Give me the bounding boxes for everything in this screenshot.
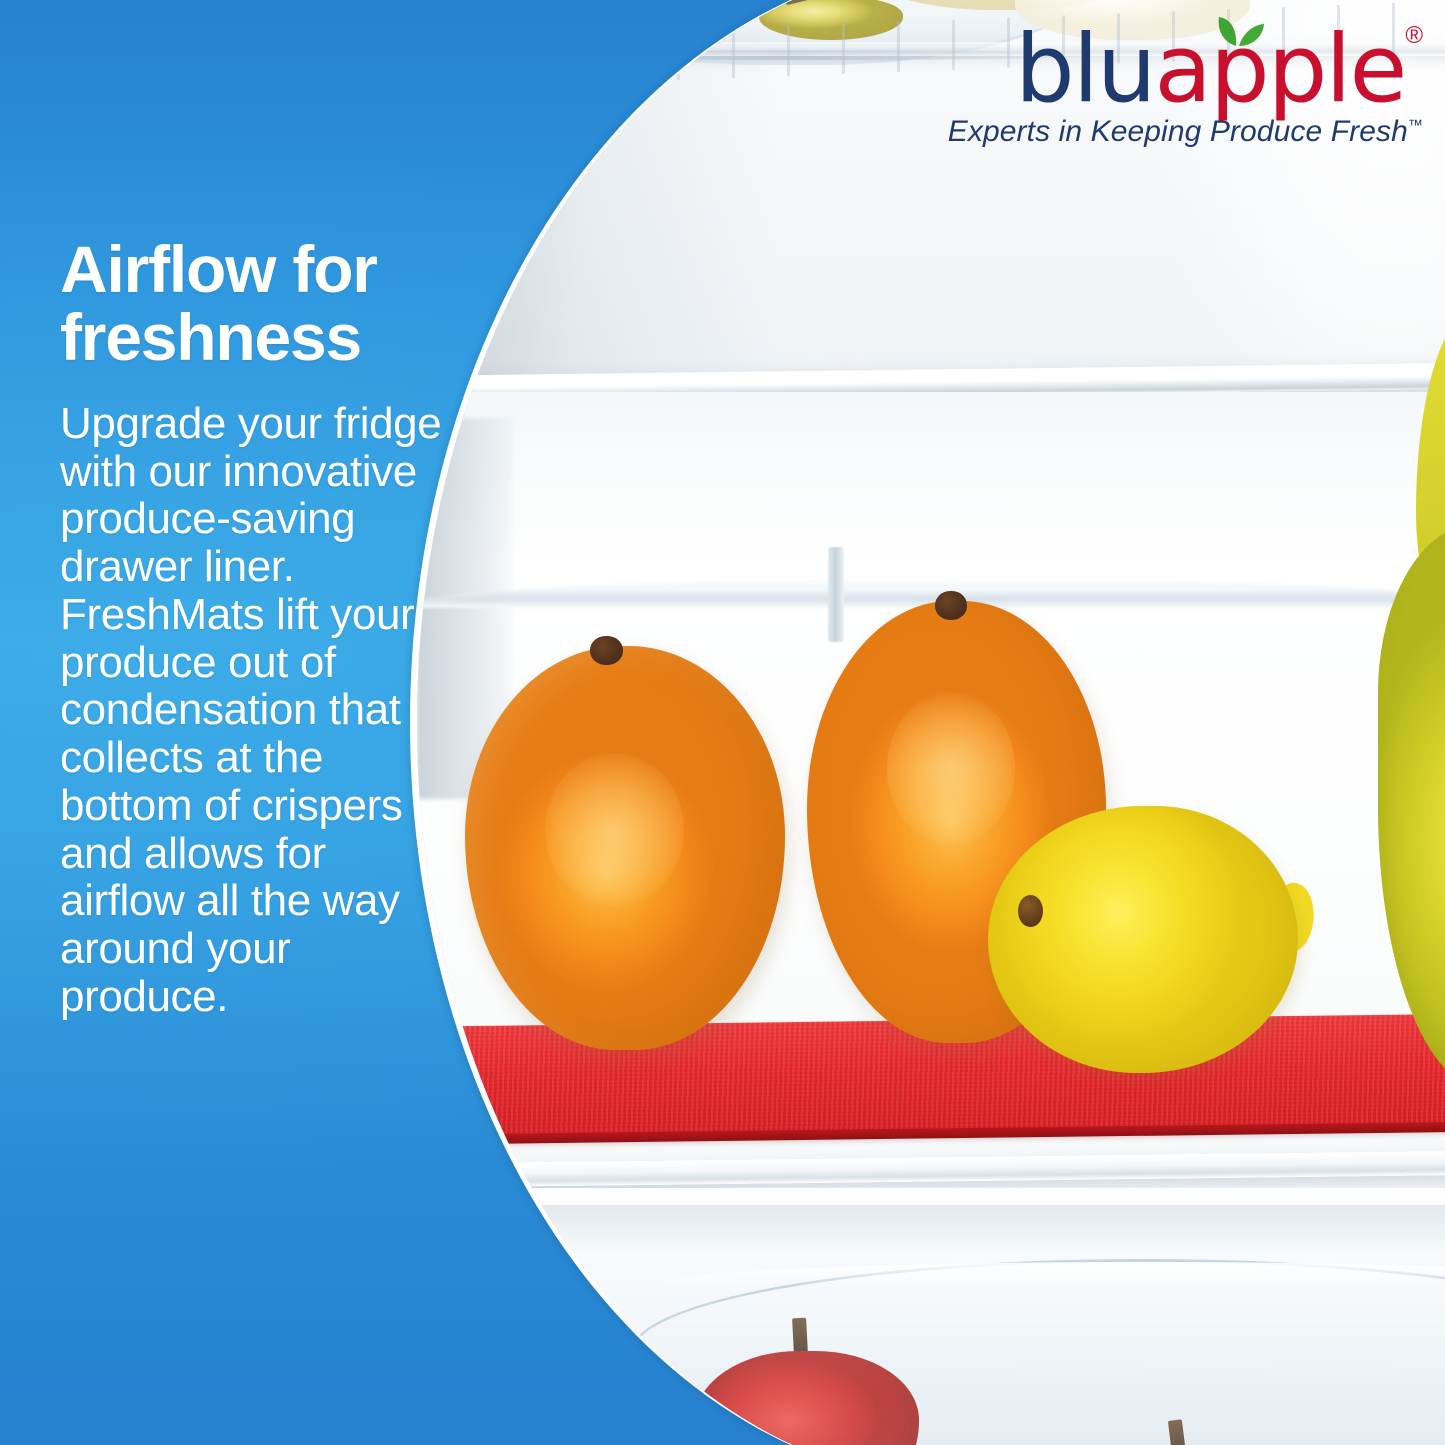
marketing-copy-block: Airflow for freshness Upgrade your fridg… [60, 236, 452, 1020]
body-copy: Upgrade your fridge with our innovative … [60, 400, 452, 1021]
trademark-symbol: ™ [1408, 117, 1423, 134]
apple-leaf-icon [1211, 12, 1265, 48]
refrigerator-interior-photo [417, 0, 1445, 1445]
crisper-top-shadow [417, 1205, 1445, 1253]
logo-wordmark: bluapple® [1015, 26, 1423, 113]
registered-trademark-symbol: ® [1405, 22, 1423, 49]
red-apple-stem-left [512, 1419, 528, 1445]
orange-right-stem [935, 591, 967, 620]
logo-apple-text: apple [1154, 15, 1405, 124]
lemon-stem [1018, 895, 1043, 927]
logo-blu-text: blu [1015, 15, 1154, 124]
bottom-crisper-zone [417, 1188, 1445, 1445]
orange-right-texture [887, 692, 1015, 845]
orange-left-stem [590, 636, 623, 665]
bluapple-logo[interactable]: bluapple® Experts in Keeping Produce Fre… [948, 26, 1423, 149]
product-photo [410, 0, 1445, 1445]
lemon [988, 806, 1298, 1073]
orange-left-texture [545, 753, 684, 906]
shelf-divider-support [828, 547, 844, 642]
page-title: Airflow for freshness [60, 236, 452, 372]
